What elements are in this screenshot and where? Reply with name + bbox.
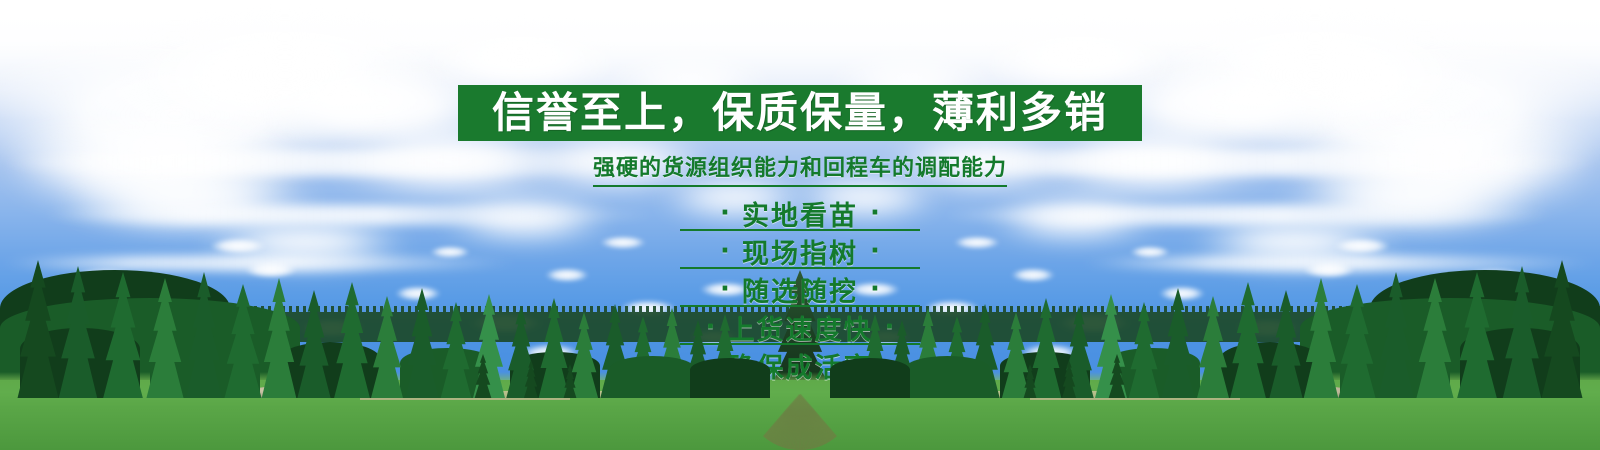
- bullet-dot-right: ·: [858, 238, 892, 264]
- feature-item: ·实地看苗·: [650, 195, 950, 231]
- banner-title: 信誉至上，保质保量，薄利多销: [492, 92, 1108, 134]
- title-banner-box: 信誉至上，保质保量，薄利多销: [458, 85, 1142, 141]
- feature-label: 随选随挖: [742, 270, 858, 309]
- bullet-dot-left: ·: [708, 200, 742, 226]
- promo-banner: 信誉至上，保质保量，薄利多销 强硬的货源组织能力和回程车的调配能力 ·实地看苗·…: [0, 0, 1600, 450]
- banner-subtitle: 强硬的货源组织能力和回程车的调配能力: [593, 150, 1007, 187]
- feature-item: ·现场指树·: [650, 233, 950, 269]
- feature-label: 实地看苗: [742, 194, 858, 233]
- feature-label: 现场指树: [742, 232, 858, 271]
- bullet-dot-left: ·: [708, 276, 742, 302]
- feature-item: ·随选随挖·: [650, 271, 950, 307]
- forest-mass: [905, 356, 990, 398]
- bullet-dot-right: ·: [858, 276, 892, 302]
- forest-mass: [830, 358, 910, 398]
- bullet-dot-left: ·: [708, 238, 742, 264]
- forest-mass: [610, 356, 695, 398]
- forest-mass: [690, 358, 770, 398]
- bullet-dot-right: ·: [858, 200, 892, 226]
- feature-label: 上货速度快: [728, 308, 873, 347]
